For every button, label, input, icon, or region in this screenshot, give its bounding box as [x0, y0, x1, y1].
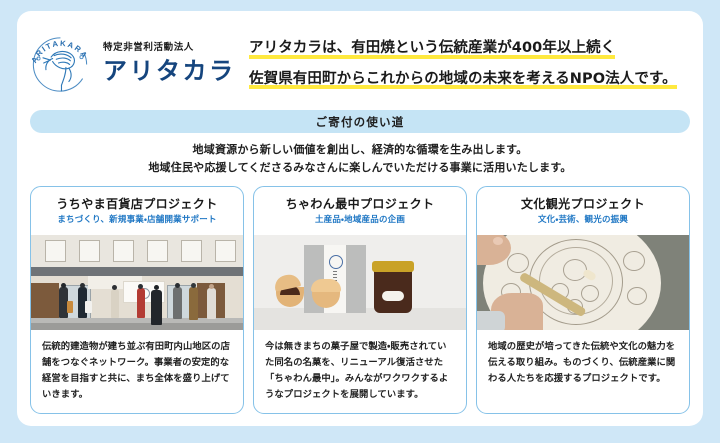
brand-text: 特定非営利活動法人 アリタカラ: [103, 43, 236, 84]
donation-usage-banner-label: ご寄付の使い道: [316, 114, 405, 130]
project-card-subtitle: 土産品・地域産品の企画: [315, 216, 405, 225]
donation-usage-banner: ご寄付の使い道: [30, 110, 690, 133]
project-card-header: 文化観光プロジェクト 文化・芸術、観光の振興: [477, 187, 689, 235]
project-card-photo: [31, 235, 243, 330]
headline-line-2: 佐賀県有田町からこれからの地域の未来を考えるNPO法人です。: [249, 72, 677, 90]
project-card-body: 地域の歴史が培ってきた伝統や文化の魅力を伝える取り組み。ものづくり、伝統産業に関…: [477, 330, 689, 387]
project-card-body: 伝統的建造物が建ち並ぶ有田町内山地区の店舗をつなぐネットワーク。事業者の安定的な…: [31, 330, 243, 403]
project-card[interactable]: うちやま百貨店プロジェクト まちづくり、新規事業・店舗開業サポート: [30, 186, 244, 414]
project-card-subtitle: まちづくり、新規事業・店舗開業サポート: [57, 216, 216, 225]
lede-line-1: 地域資源から新しい価値を創出し、経済的な循環を生み出します。: [17, 141, 703, 159]
project-card-photo: [254, 235, 466, 330]
project-card-subtitle: 文化・芸術、観光の振興: [538, 216, 628, 225]
lede-line-2: 地域住民や応援してくださるみなさんに楽しんでいただける事業に活用いたします。: [17, 159, 703, 177]
project-card-title: ちゃわん最中プロジェクト: [286, 198, 435, 210]
brand-lockup: ARITAKARA 特定非営利活動法人: [23, 25, 241, 101]
headline-line-1: アリタカラは、有田焼という伝統産業が400年以上続く: [249, 41, 615, 59]
project-card-description: 伝統的建造物が建ち並ぶ有田町内山地区の店舗をつなぐネットワーク。事業者の安定的な…: [42, 339, 232, 403]
project-card-description: 地域の歴史が培ってきた伝統や文化の魅力を伝える取り組み。ものづくり、伝統産業に関…: [488, 339, 678, 387]
project-card-photo: [477, 235, 689, 330]
project-card-title: 文化観光プロジェクト: [521, 198, 645, 210]
project-card[interactable]: 文化観光プロジェクト 文化・芸術、観光の振興: [476, 186, 690, 414]
project-card-header: ちゃわん最中プロジェクト 土産品・地域産品の企画: [254, 187, 466, 235]
project-card-description: 今は無きまちの菓子屋で製造・販売されていた同名の名菓を、リニューアル復活させた「…: [265, 339, 455, 403]
content-card: ARITAKARA 特定非営利活動法人: [17, 11, 703, 426]
aritakara-crane-emblem-icon: ARITAKARA: [23, 26, 97, 100]
project-card-header: うちやま百貨店プロジェクト まちづくり、新規事業・店舗開業サポート: [31, 187, 243, 235]
brand-name: アリタカラ: [103, 59, 236, 83]
lede-paragraph: 地域資源から新しい価値を創出し、経済的な循環を生み出します。 地域住民や応援して…: [17, 141, 703, 177]
project-card[interactable]: ちゃわん最中プロジェクト 土産品・地域産品の企画: [253, 186, 467, 414]
project-card-body: 今は無きまちの菓子屋で製造・販売されていた同名の名菓を、リニューアル復活させた「…: [254, 330, 466, 403]
project-card-list: うちやま百貨店プロジェクト まちづくり、新規事業・店舗開業サポート: [30, 186, 690, 414]
project-card-title: うちやま百貨店プロジェクト: [56, 198, 217, 210]
brand-kicker: 特定非営利活動法人: [103, 43, 236, 53]
page-header: ARITAKARA 特定非営利活動法人: [17, 11, 703, 105]
headline: アリタカラは、有田焼という伝統産業が400年以上続く 佐賀県有田町からこれからの…: [249, 39, 701, 89]
